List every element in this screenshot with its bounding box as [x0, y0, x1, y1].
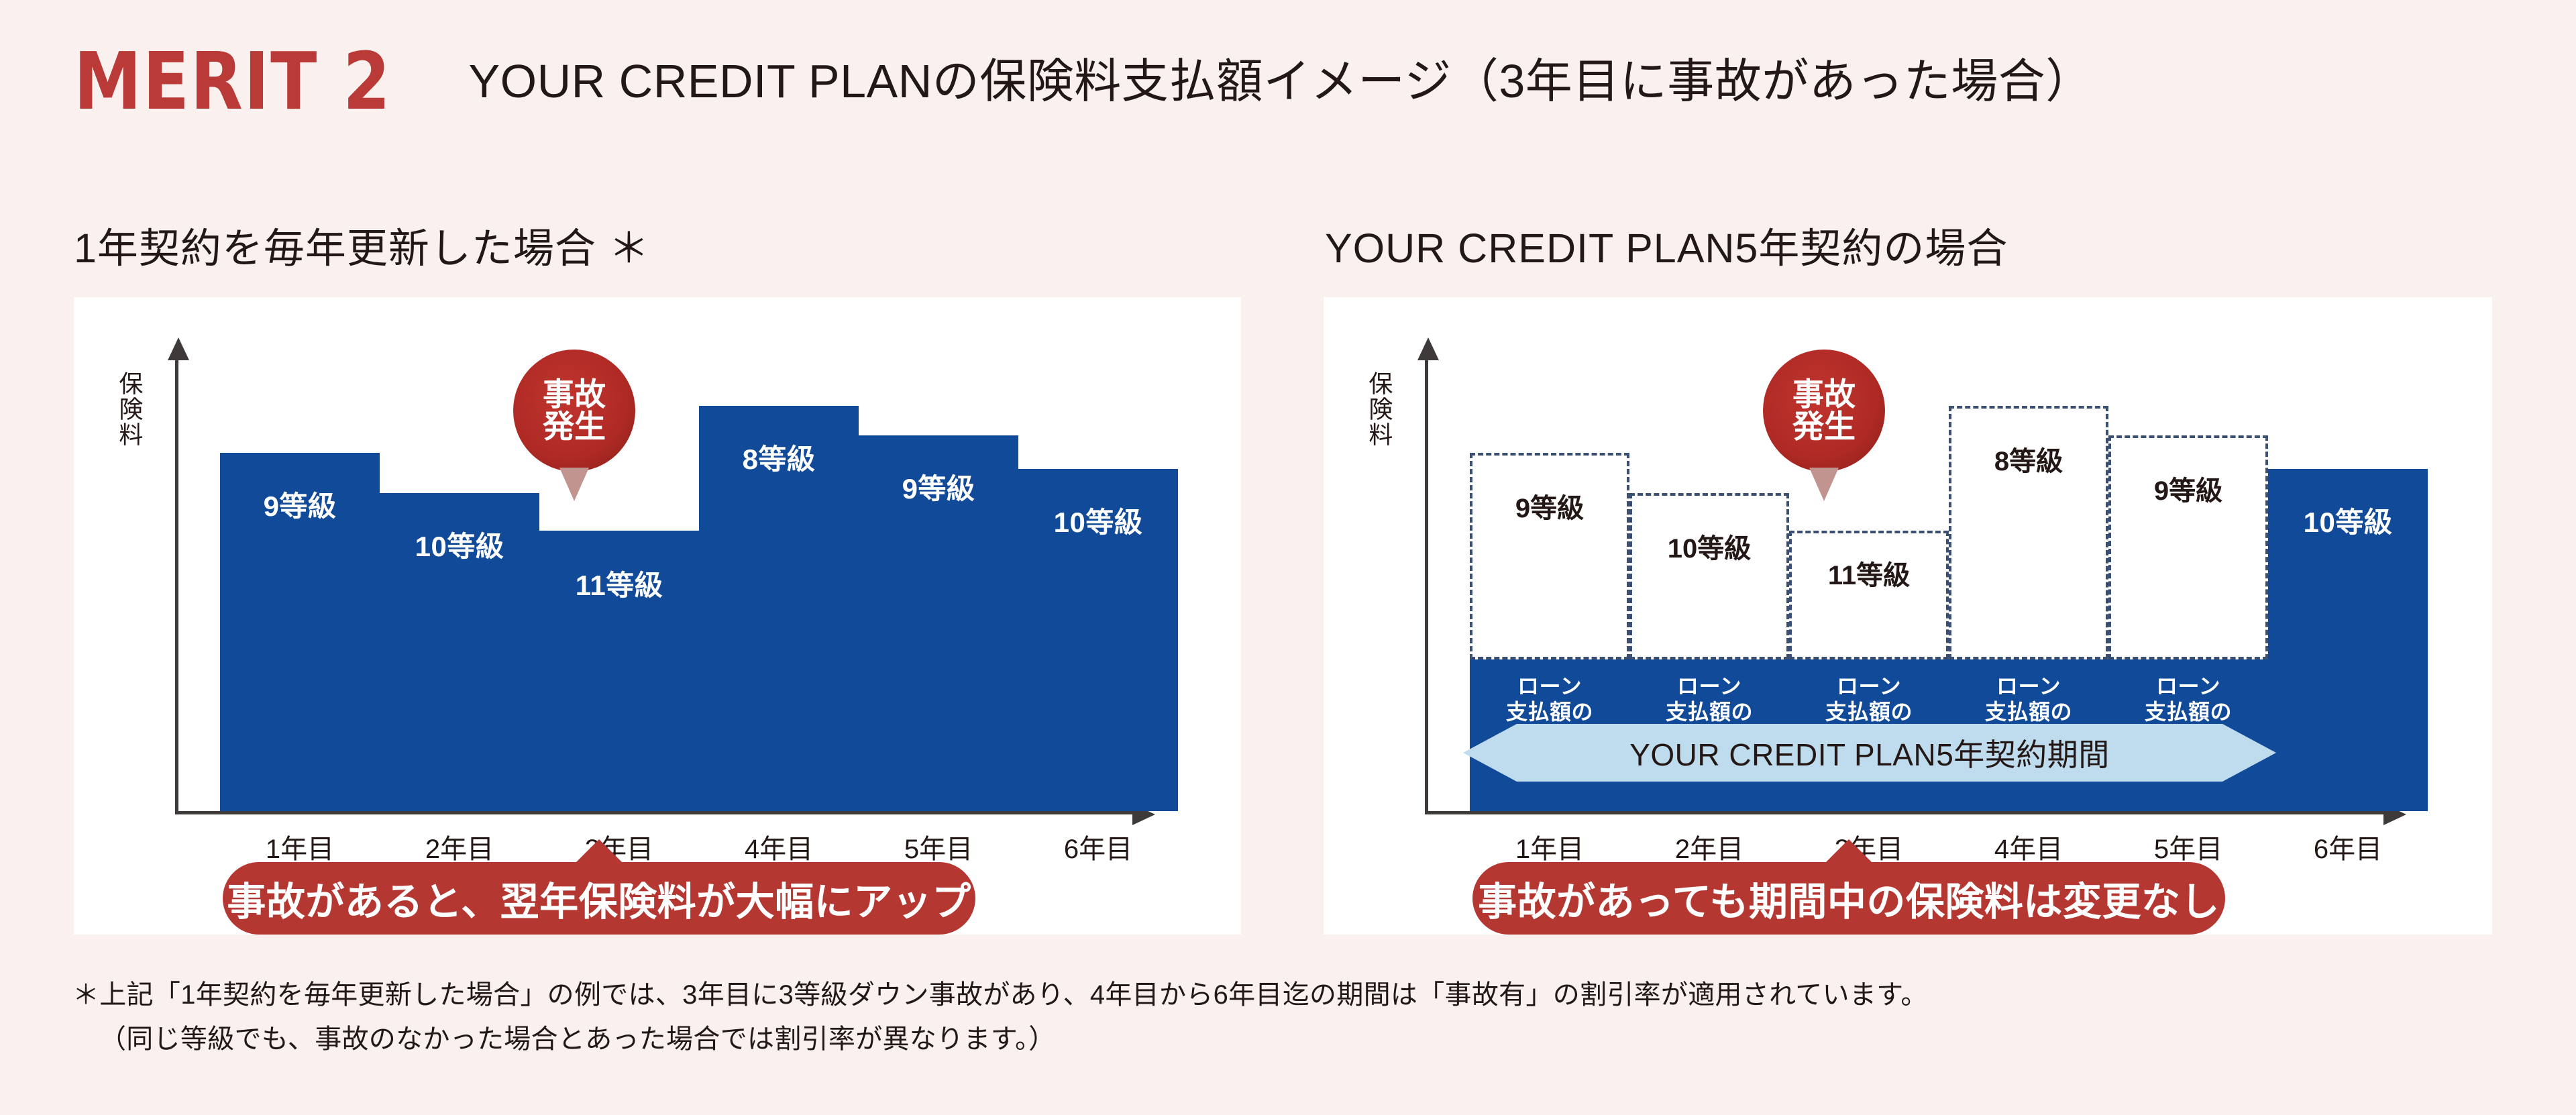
bar-label-year-5: 9等級 — [859, 466, 1018, 507]
arrow-head-left-icon — [1463, 724, 1517, 782]
right-panel-title: YOUR CREDIT PLAN5年契約の場合 — [1325, 215, 2008, 274]
merit-badge: MERIT 2 — [74, 42, 391, 121]
footnote: ＊上記「1年契約を毎年更新した場合」の例では、3年目に3等級ダウン事故があり、4… — [72, 973, 1928, 1061]
x-tick-year-5: 5年目 — [859, 827, 1018, 866]
x-tick-year-1: 1年目 — [220, 827, 380, 866]
x-tick-year-4: 4年目 — [699, 827, 859, 866]
x-tick-year-6: 6年目 — [2268, 827, 2428, 866]
ghost-label-year-1: 9等級 — [1470, 486, 1629, 525]
accident-badge-pointer — [1809, 468, 1839, 501]
right-banner: 事故があっても期間中の保険料は変更なし — [1472, 862, 2225, 935]
accident-badge-line1: 事故 — [1792, 378, 1856, 411]
ghost-label-year-2: 10等級 — [1627, 527, 1792, 566]
accident-badge-line2: 発生 — [543, 411, 606, 443]
x-tick-year-2: 2年目 — [380, 827, 539, 866]
right-x-axis — [1425, 811, 2385, 814]
footnote-line-1: ＊上記「1年契約を毎年更新した場合」の例では、3年目に3等級ダウン事故があり、4… — [72, 973, 1928, 1017]
left-y-axis-label: 保険料 — [115, 371, 142, 447]
accident-badge-line2: 発生 — [1792, 411, 1856, 443]
right-banner-notch — [1825, 839, 1873, 863]
left-banner: 事故があると、翌年保険料が大幅にアップ — [223, 862, 975, 935]
accident-badge-line1: 事故 — [543, 378, 606, 411]
arrow-head-right-icon — [2222, 724, 2276, 782]
accident-badge: 事故 発生 — [1763, 350, 1885, 472]
bar-label-year-2: 10等級 — [377, 524, 542, 565]
page-header: MERIT 2 YOUR CREDIT PLANの保険料支払額イメージ（3年目に… — [74, 42, 2093, 121]
left-banner-text: 事故があると、翌年保険料が大幅にアップ — [227, 870, 971, 926]
accident-badge-pointer — [559, 468, 589, 501]
contract-period-label: YOUR CREDIT PLAN5年契約期間 — [1629, 731, 2110, 775]
right-banner-text: 事故があっても期間中の保険料は変更なし — [1478, 870, 2220, 926]
page-title: YOUR CREDIT PLANの保険料支払額イメージ（3年目に事故があった場合… — [468, 58, 2092, 105]
x-tick-year-2: 2年目 — [1629, 827, 1789, 866]
right-y-axis-label: 保険料 — [1365, 371, 1392, 447]
bar-label-year-1: 9等級 — [220, 484, 380, 525]
right-chart-panel: 保険料 9等級 ローン 支払額の イメージ 10等級 ローン 支払額の イメージ… — [1324, 297, 2492, 935]
ghost-label-year-4: 8等級 — [1949, 439, 2108, 478]
right-chart: 保険料 9等級 ローン 支払額の イメージ 10等級 ローン 支払額の イメージ… — [1324, 297, 2492, 935]
contract-period-arrow: YOUR CREDIT PLAN5年契約期間 — [1463, 724, 2276, 782]
footnote-line-2: （同じ等級でも、事故のなかった場合とあった場合では割引率が異なります。） — [72, 1017, 1928, 1061]
x-tick-year-5: 5年目 — [2108, 827, 2268, 866]
bar-label-year-6: 10等級 — [2265, 500, 2430, 541]
x-tick-year-1: 1年目 — [1470, 827, 1629, 866]
accident-badge: 事故 発生 — [513, 350, 635, 472]
left-y-axis-arrow — [168, 337, 189, 360]
bar-label-year-3: 11等級 — [537, 563, 702, 604]
right-y-axis — [1425, 359, 1428, 814]
ghost-label-year-5: 9等級 — [2108, 469, 2268, 508]
bar-label-year-6: 10等級 — [1016, 500, 1181, 541]
ghost-bar-year-2 — [1629, 493, 1789, 659]
ghost-bar-year-3 — [1789, 531, 1949, 659]
x-tick-year-4: 4年目 — [1949, 827, 2108, 866]
left-banner-notch — [575, 839, 623, 863]
left-y-axis — [175, 359, 178, 814]
left-chart-panel: 保険料 9等級 10等級 11等級 8等級 9等級 10等級 事故 発生 1年目… — [74, 297, 1241, 935]
right-y-axis-arrow — [1417, 337, 1439, 360]
left-panel-title: 1年契約を毎年更新した場合 ＊ — [74, 215, 650, 274]
ghost-label-year-3: 11等級 — [1786, 553, 1951, 592]
x-tick-year-6: 6年目 — [1018, 827, 1178, 866]
left-chart: 保険料 9等級 10等級 11等級 8等級 9等級 10等級 事故 発生 1年目… — [74, 297, 1241, 935]
bar-label-year-4: 8等級 — [699, 437, 859, 478]
ghost-bar-year-1 — [1470, 453, 1629, 659]
left-x-axis — [175, 811, 1134, 814]
